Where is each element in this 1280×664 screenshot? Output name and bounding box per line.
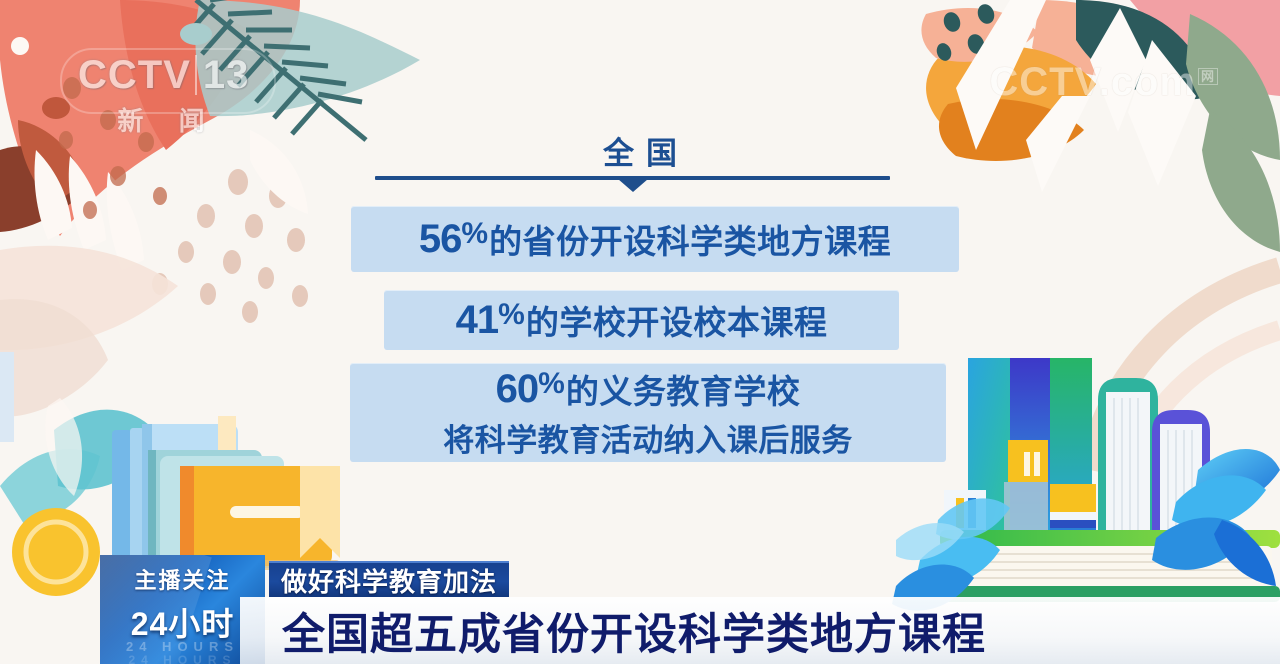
stat-3-number: 60 [496, 367, 539, 412]
badge-top-label: 主播关注 [100, 563, 265, 595]
stat-3-percent: % [538, 367, 565, 401]
stat-2-number: 41 [456, 298, 499, 343]
stat-1-text: 的省份开设科学类地方课程 [489, 215, 891, 263]
infographic-title: 全国 [0, 128, 1280, 173]
title-divider [375, 176, 890, 192]
banner-headline: 全国超五成省份开设科学类地方课程 [240, 597, 1280, 664]
screenshot-root: CCTV13 新 闻 CCTV.com网 全国 56 % 的省份开设科学类地方课… [0, 0, 1280, 664]
stat-1-percent: % [461, 217, 488, 251]
banner-subheadline-text: 做好科学教育加法 [281, 562, 497, 599]
banner-subheadline: 做好科学教育加法 [269, 561, 509, 597]
stat-1-number: 56 [419, 217, 462, 262]
stat-card-2: 41 % 的学校开设校本课程 [384, 290, 899, 350]
cctv-logo-ring [60, 48, 276, 114]
stat-card-1: 56 % 的省份开设科学类地方课程 [351, 206, 959, 272]
stat-3-line-2: 将科学教育活动纳入课后服务 [443, 415, 853, 460]
stat-2-percent: % [498, 298, 525, 332]
stat-3-line-1: 60 % 的义务教育学校 [496, 365, 801, 413]
banner-headline-text: 全国超五成省份开设科学类地方课程 [282, 600, 986, 662]
stat-card-3: 60 % 的义务教育学校 将科学教育活动纳入课后服务 [350, 363, 946, 462]
divider-triangle-icon [618, 179, 648, 192]
stat-3-text: 的义务教育学校 [566, 365, 801, 413]
left-edge-book [0, 352, 14, 442]
stat-2-text: 的学校开设校本课程 [526, 296, 828, 344]
